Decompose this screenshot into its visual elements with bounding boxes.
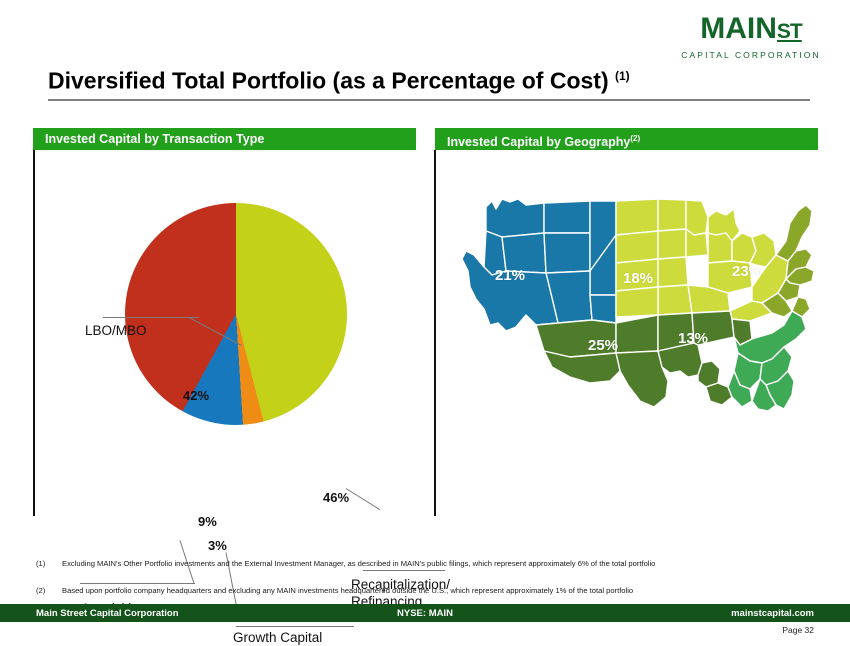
page-number: Page 32 <box>782 625 814 635</box>
pie-chart <box>125 203 347 425</box>
pie-value-growth-capital: 3% <box>208 538 227 553</box>
page-title-footnote-marker: (1) <box>615 69 630 83</box>
footnote-2-text: Based upon portfolio company headquarter… <box>62 585 822 596</box>
logo-subtitle: CAPITAL CORPORATION <box>676 50 826 60</box>
footnote-1-text: Excluding MAIN's Other Portfolio investm… <box>62 558 822 569</box>
logo-wordmark: MAINST <box>676 14 826 47</box>
footnote-2-marker: (2) <box>36 585 60 596</box>
panel-header-transaction-type: Invested Capital by Transaction Type <box>33 128 416 150</box>
page-title-text: Diversified Total Portfolio (as a Percen… <box>48 68 609 94</box>
panel-header-right-label: Invested Capital by Geography <box>447 135 630 149</box>
pie-value-acquisition: 9% <box>198 514 217 529</box>
footer-bar: Main Street Capital Corporation NYSE: MA… <box>0 604 850 622</box>
us-map-area: 21% 18% 23% 25% 13% <box>440 175 825 415</box>
panel-divider <box>434 150 436 516</box>
slide: MAINST CAPITAL CORPORATION Diversified T… <box>0 0 850 638</box>
panel-header-right-footnote-marker: (2) <box>630 134 640 143</box>
map-value-northeast: 23% <box>732 263 762 280</box>
logo-main-text: MAIN <box>700 12 777 45</box>
page-title-wrap: Diversified Total Portfolio (as a Percen… <box>48 62 808 95</box>
map-region-west <box>462 199 616 331</box>
footnote-1-marker: (1) <box>36 558 60 569</box>
pie-label-lbo-mbo: LBO/MBO <box>85 322 147 339</box>
footer-website[interactable]: mainstcapital.com <box>731 608 814 619</box>
map-value-south-central: 25% <box>588 337 618 354</box>
map-region-south-central <box>536 311 752 407</box>
pie-chart-area: 42% 46% 9% 3% LBO/MBO Recapitalization/ … <box>33 150 433 520</box>
pie-value-lbo-mbo: 42% <box>183 388 209 403</box>
leader-line-lbo-horizontal <box>103 317 199 318</box>
logo-st-text: ST <box>777 20 802 43</box>
map-value-west: 21% <box>495 267 525 284</box>
company-logo: MAINST CAPITAL CORPORATION <box>676 14 826 60</box>
map-value-midwest: 18% <box>623 270 653 287</box>
leader-line-acquisition-horizontal <box>80 583 195 584</box>
pie-value-recapitalization: 46% <box>323 490 349 505</box>
leader-line-recap-diagonal <box>346 488 380 510</box>
footnote-2: (2) Based upon portfolio company headqua… <box>36 585 826 599</box>
us-region-map <box>440 175 825 415</box>
map-value-southeast: 13% <box>678 330 708 347</box>
panel-header-left-label: Invested Capital by Transaction Type <box>45 132 264 146</box>
panel-header-geography: Invested Capital by Geography(2) <box>435 128 818 150</box>
leader-line-growth-horizontal <box>236 626 354 627</box>
page-title: Diversified Total Portfolio (as a Percen… <box>48 62 808 95</box>
footer-ticker: NYSE: MAIN <box>0 608 850 619</box>
footnote-1: (1) Excluding MAIN's Other Portfolio inv… <box>36 558 826 582</box>
title-divider <box>48 99 810 101</box>
